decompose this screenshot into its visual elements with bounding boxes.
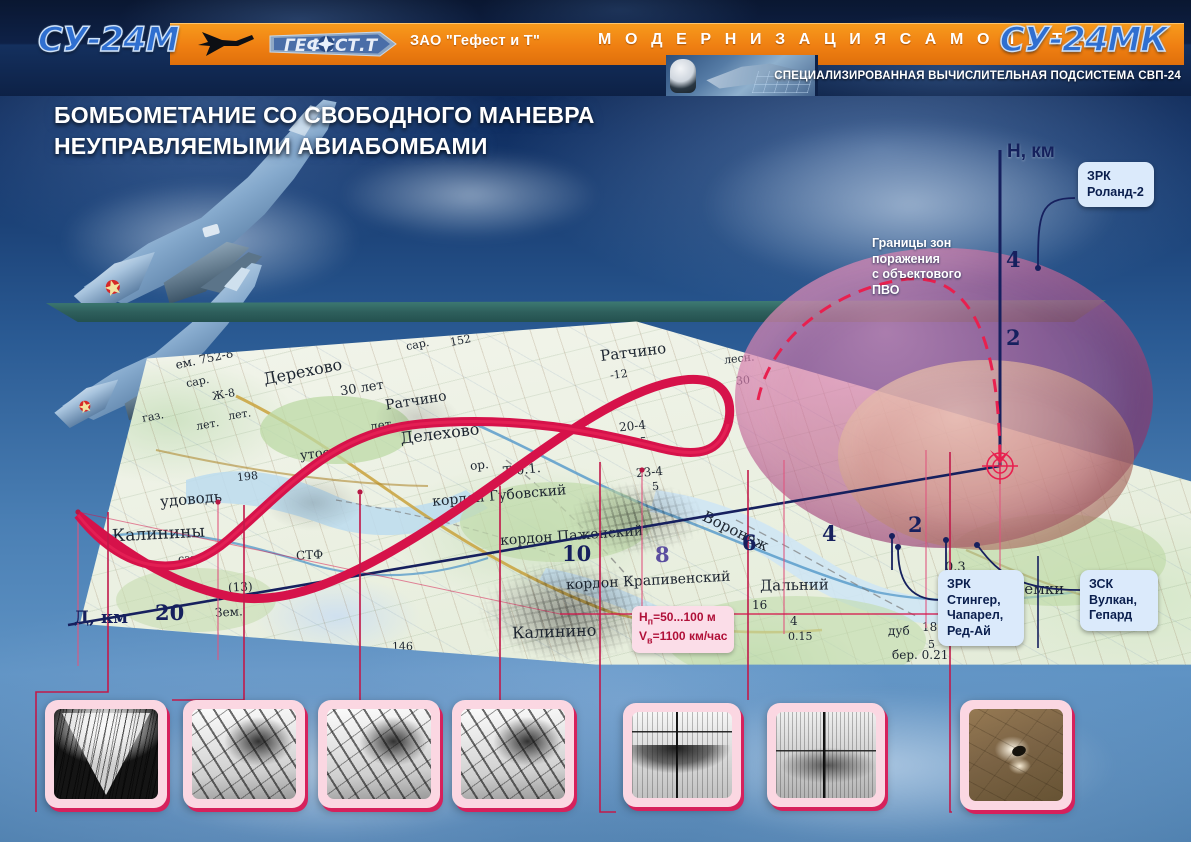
bomb-damage-photo-image (969, 709, 1063, 801)
callout-zrk-stinger[interactable]: ЗРК Стингер, Чапарел, Ред-Ай (938, 570, 1024, 646)
page-title-line-1: БОМБОМЕТАНИЕ СО СВОБОДНОГО МАНЕВРА (54, 100, 694, 131)
zone-boundary-note: Границы зон поражения с объектового ПВО (872, 236, 961, 298)
subsystem-label: СПЕЦИАЛИЗИРОВАННАЯ ВЫЧИСЛИТЕЛЬНАЯ ПОДСИС… (774, 70, 1181, 82)
slide-canvas: Аем. 752-8сар.сар.152ДереховоЖ-830 летРа… (0, 0, 1191, 842)
page-title: БОМБОМЕТАНИЕ СО СВОБОДНОГО МАНЕВРА НЕУПР… (54, 100, 694, 162)
sam-envelope-inner (838, 360, 1134, 550)
thumbnail-radar-scope-6[interactable] (767, 703, 885, 807)
axis-title-distance: Д, км (74, 608, 128, 628)
map-label: А (132, 358, 144, 374)
map-label: сар. (192, 652, 216, 666)
thumbnail-radar-ground-map-2[interactable] (183, 700, 305, 808)
axis-tick-d-10: 10 (562, 541, 591, 566)
company-name: ЗАО "Гефест и Т" (410, 33, 540, 49)
pilot-helmet (670, 59, 696, 93)
axis-title-altitude: Н, км (1007, 141, 1055, 163)
radar-scope-5-image (632, 712, 732, 798)
cloud-wisp (60, 180, 360, 300)
param-altitude: Нп=50...100 м (639, 610, 727, 629)
param-speed: Vв=1100 км/час (639, 629, 727, 648)
gefest-logo: ГЕФЕСТ.Т (268, 28, 398, 60)
radar-ground-map-4-image (461, 709, 565, 799)
thumbnail-radar-scope-5[interactable] (623, 703, 741, 807)
thumbnail-radar-ground-map-1[interactable] (45, 700, 167, 808)
flight-parameters-box: Нп=50...100 м Vв=1100 км/час (632, 606, 734, 653)
radar-ground-map-3-image (327, 709, 431, 799)
axis-tick-h-2: 2 (1006, 325, 1021, 350)
badge-su24m: СУ-24М (38, 20, 178, 60)
jet-silhouette-icon (196, 30, 256, 58)
map-label: Скрымно (80, 639, 149, 657)
axis-tick-d-8: 8 (655, 542, 670, 567)
axis-tick-d-6: 6 (742, 530, 757, 555)
page-title-line-2: НЕУПРАВЛЯЕМЫМИ АВИАБОМБАМИ (54, 131, 694, 162)
thumbnail-radar-ground-map-4[interactable] (452, 700, 574, 808)
badge-su24mk: СУ-24МК (1000, 20, 1167, 60)
map-label: 25 (420, 654, 434, 667)
radar-ground-map-1-image (54, 709, 158, 799)
cloud-wisp (340, 150, 600, 240)
axis-tick-d-20: 20 (155, 600, 184, 625)
thumbnail-radar-ground-map-3[interactable] (318, 700, 440, 808)
thumbnail-bomb-damage-photo[interactable] (960, 700, 1072, 810)
radar-scope-6-image (776, 712, 876, 798)
callout-zsk-vulcan[interactable]: ЗСК Вулкан, Гепард (1080, 570, 1158, 631)
axis-tick-d-2: 2 (908, 512, 923, 537)
callout-zrk-roland-2[interactable]: ЗРК Роланд-2 (1078, 162, 1154, 207)
axis-tick-d-4: 4 (822, 521, 837, 546)
axis-tick-h-4: 4 (1006, 247, 1021, 272)
radar-ground-map-2-image (192, 709, 296, 799)
slide-header: ГЕФЕСТ.Т ЗАО "Гефест и Т" М О Д Е Р Н И … (0, 0, 1191, 96)
